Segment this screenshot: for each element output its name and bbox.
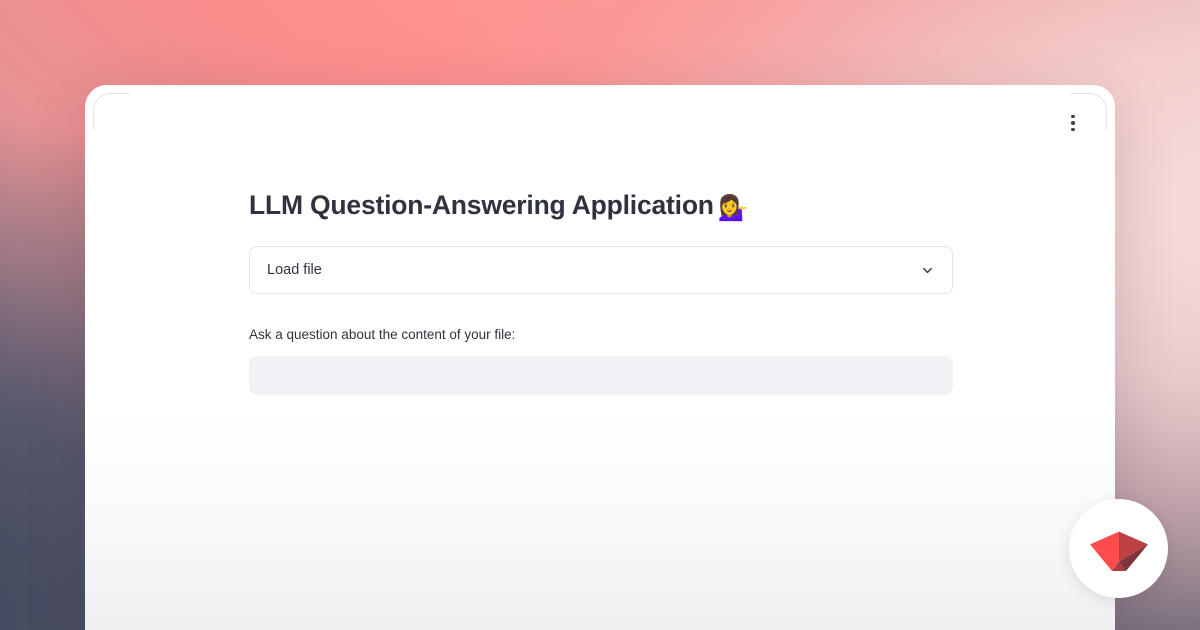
window-corner-arc-left — [93, 93, 130, 130]
load-file-expander-label: Load file — [267, 263, 322, 278]
question-input[interactable] — [249, 356, 953, 395]
streamlit-crown-icon — [1090, 520, 1148, 578]
kebab-menu-icon[interactable] — [1062, 112, 1084, 134]
page-title: LLM Question-Answering Application💁‍♀️ — [249, 190, 953, 223]
load-file-expander[interactable]: Load file — [249, 246, 953, 294]
question-field-label: Ask a question about the content of your… — [249, 326, 953, 345]
screenshot-stage: LLM Question-Answering Application💁‍♀️ L… — [0, 0, 1200, 630]
streamlit-logo-badge[interactable] — [1069, 499, 1168, 598]
app-window: LLM Question-Answering Application💁‍♀️ L… — [85, 85, 1115, 630]
kebab-dot — [1071, 128, 1075, 132]
kebab-dot — [1071, 121, 1075, 125]
woman-tipping-hand-emoji: 💁‍♀️ — [718, 193, 749, 222]
main-content: LLM Question-Answering Application💁‍♀️ L… — [249, 190, 953, 395]
page-title-text: LLM Question-Answering Application — [249, 190, 714, 220]
chevron-down-icon — [920, 263, 935, 278]
kebab-dot — [1071, 115, 1075, 119]
